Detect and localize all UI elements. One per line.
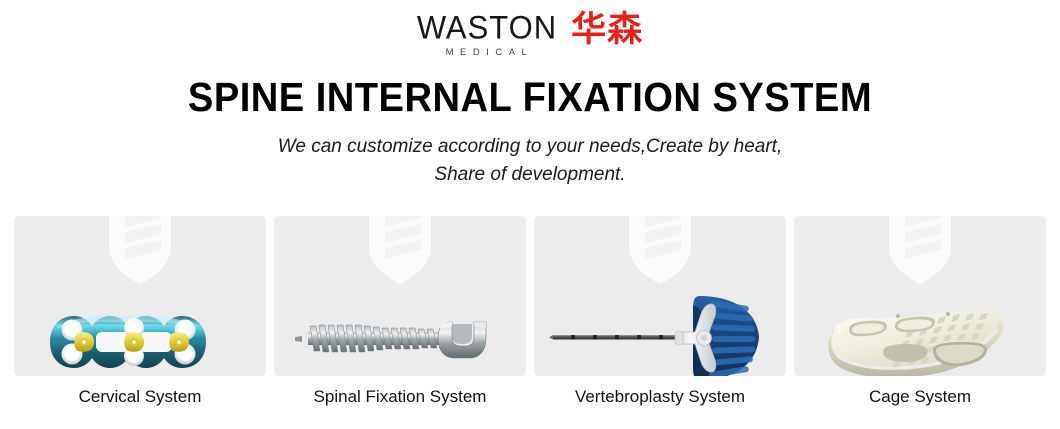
cervical-plate-image <box>40 302 240 376</box>
brand-latin-block: WASTON MEDICAL <box>417 12 557 58</box>
product-panel-cage[interactable] <box>794 216 1046 376</box>
interbody-cage-image <box>815 288 1025 376</box>
tagline-line-2: Share of development. <box>0 161 1060 189</box>
pedicle-screw-stage <box>274 248 526 376</box>
product-panel-spinal-fixation[interactable] <box>274 216 526 376</box>
caption-spinal-fixation: Spinal Fixation System <box>274 386 526 418</box>
pedicle-screw-image <box>292 310 508 373</box>
cervical-plate-stage <box>14 248 266 376</box>
brand-chinese-name: 华森 <box>571 13 643 48</box>
page-title: SPINE INTERNAL FIXATION SYSTEM <box>37 74 1023 121</box>
interbody-cage-stage <box>794 248 1046 376</box>
brand-subtitle: MEDICAL <box>446 48 534 58</box>
vertebroplasty-needle-stage <box>534 248 786 376</box>
product-panel-row <box>14 216 1046 376</box>
vertebroplasty-needle-image <box>549 288 771 376</box>
caption-vertebroplasty: Vertebroplasty System <box>534 386 786 418</box>
product-banner: WASTON MEDICAL 华森 SPINE INTERNAL FIXATIO… <box>0 0 1060 429</box>
product-panel-cervical[interactable] <box>14 216 266 376</box>
product-panel-vertebroplasty[interactable] <box>534 216 786 376</box>
caption-cervical: Cervical System <box>14 386 266 418</box>
tagline: We can customize according to your needs… <box>0 133 1060 189</box>
brand-name: WASTON <box>417 11 557 43</box>
tagline-line-1: We can customize according to your needs… <box>0 133 1060 161</box>
caption-cage: Cage System <box>794 386 1046 418</box>
brand-logo: WASTON MEDICAL 华森 <box>0 12 1060 58</box>
product-caption-row: Cervical System Spinal Fixation System V… <box>14 386 1046 418</box>
